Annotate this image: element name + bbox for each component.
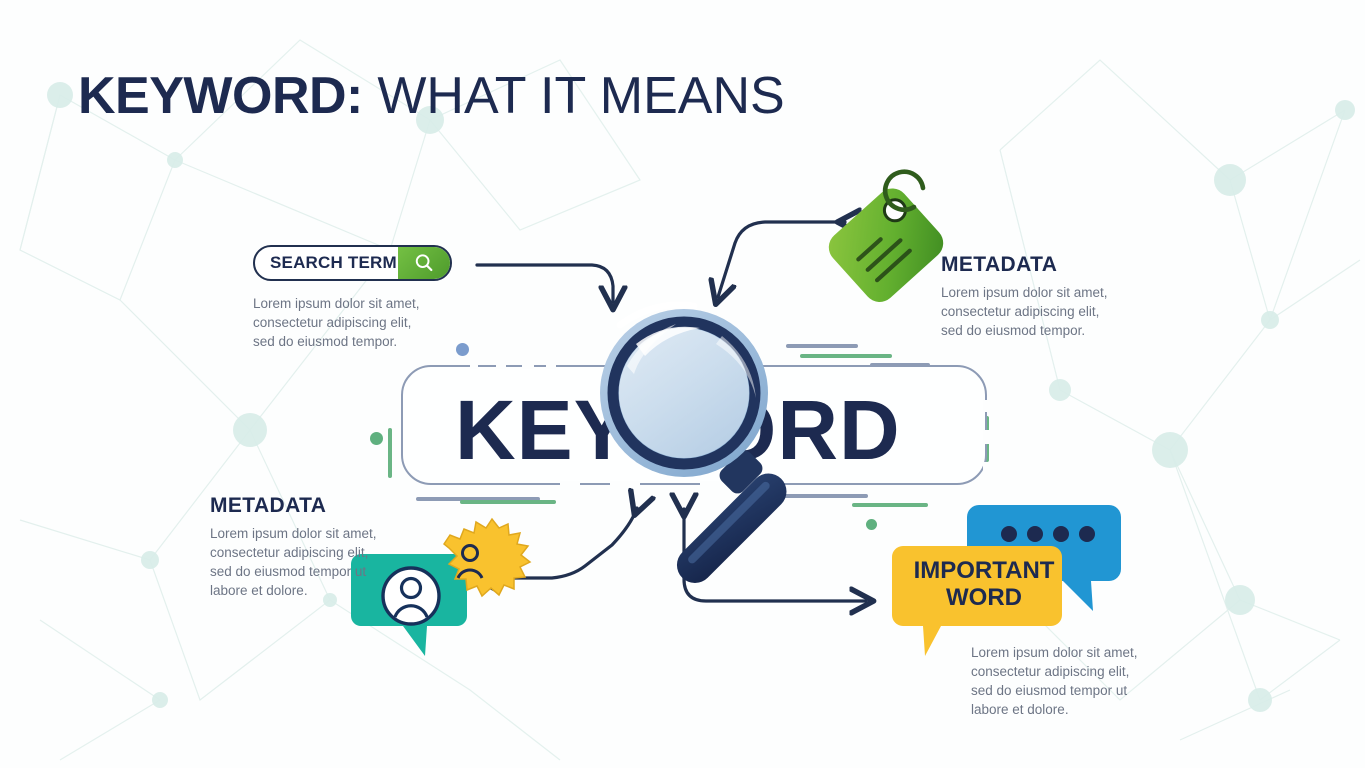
important-word-label: IMPORTANT WORD [913, 558, 1055, 612]
search-icon [413, 252, 435, 274]
accent-line-green-vertical-left [388, 428, 392, 478]
search-button[interactable] [398, 247, 450, 279]
accent-line-blue-top-right [786, 344, 858, 348]
accent-line-green-bottom-left [460, 500, 556, 504]
accent-line-blue-bottom-right [770, 494, 868, 498]
page-title: KEYWORD: WHAT IT MEANS [78, 66, 785, 126]
metadata-left-description: Lorem ipsum dolor sit amet, consectetur … [210, 524, 425, 601]
search-term-pill[interactable]: SEARCH TERM [253, 245, 452, 281]
search-term-label: SEARCH TERM [255, 253, 398, 273]
metadata-right-heading: METADATA [941, 253, 1156, 277]
metadata-left-block: METADATA Lorem ipsum dolor sit amet, con… [210, 494, 425, 601]
keyword-label: KEYWORD [455, 382, 901, 479]
page-title-light: WHAT IT MEANS [363, 67, 785, 125]
page-title-strong: KEYWORD: [78, 67, 363, 125]
accent-line-green-top-right [800, 354, 892, 358]
search-term-description: Lorem ipsum dolor sit amet, consectetur … [253, 294, 463, 351]
accent-dot-green-right [866, 519, 877, 530]
metadata-right-description: Lorem ipsum dolor sit amet, consectetur … [941, 283, 1156, 340]
important-word-description: Lorem ipsum dolor sit amet, consectetur … [971, 643, 1186, 720]
accent-dot-green-left [370, 432, 383, 445]
accent-line-green-bottom-right [852, 503, 928, 507]
metadata-right-block: METADATA Lorem ipsum dolor sit amet, con… [941, 253, 1156, 340]
metadata-left-heading: METADATA [210, 494, 425, 518]
infographic-canvas: KEYWORD: WHAT IT MEANS [0, 0, 1365, 768]
person-badge-icon [444, 519, 530, 596]
